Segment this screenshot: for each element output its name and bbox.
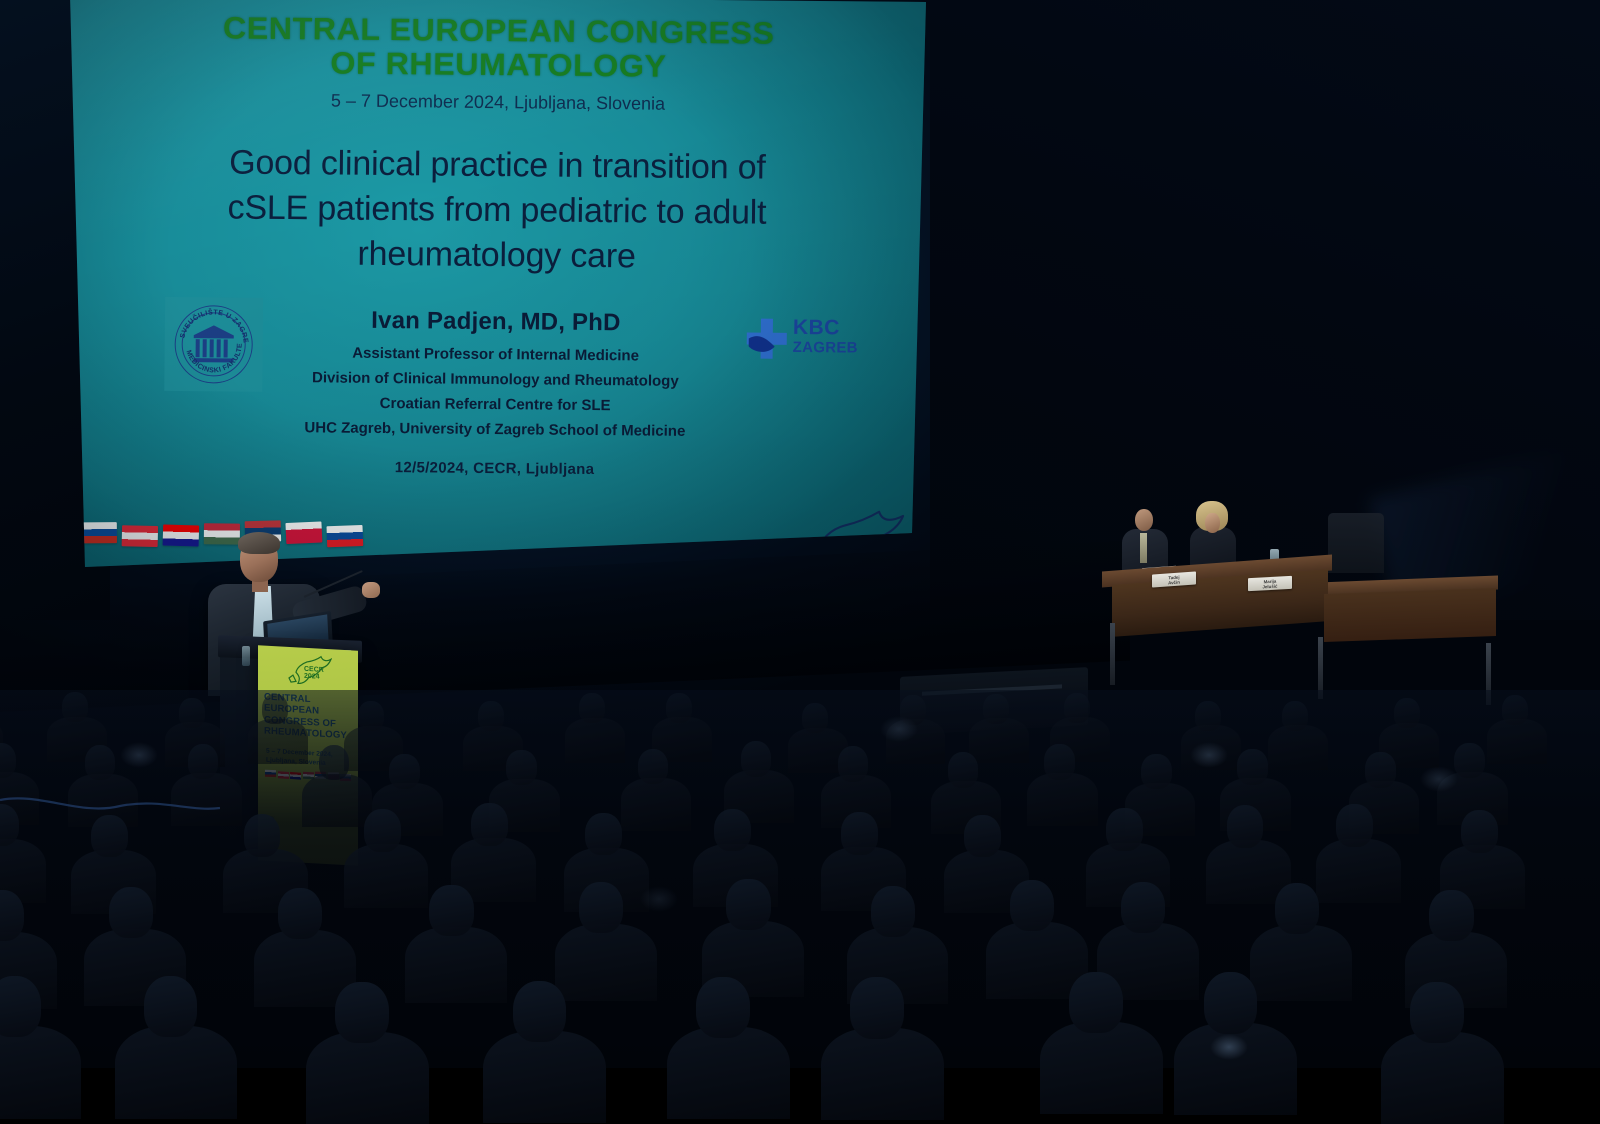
audience-member-head [1195,701,1221,731]
speaker-credit-block: SVEUČILIŠTE U ZAGREBU MEDICINSKI FAKULTE… [69,304,921,502]
congress-title-line2: OF RHEUMATOLOGY [56,44,940,86]
audience-member-head [62,692,88,722]
audience-member-head [666,693,692,723]
seal-circular-text: SVEUČILIŠTE U ZAGREBU MEDICINSKI FAKULTE… [172,303,255,386]
audience-member-head [726,879,770,930]
audience-member-head [244,814,281,857]
empty-chair [1328,513,1384,573]
audience-member-shoulders [1316,839,1401,903]
audience-member-head [335,982,388,1044]
audience-member-shoulders [1268,725,1328,770]
speaker-hand [362,582,380,598]
audience-rim-light [1210,1034,1248,1060]
audience-member-head [478,701,504,731]
stage-cable [0,790,220,826]
talk-title-line3: rheumatology care [71,229,921,282]
audience-silhouettes [0,690,1600,1068]
audience-member-head [0,976,41,1038]
audience-member-head [358,701,384,731]
audience-member-head [850,977,903,1039]
audience-member-head [638,749,669,784]
audience-member-head [179,698,205,728]
audience-member-head [1141,754,1172,789]
audience-member-head [1227,805,1264,848]
audience-member-head [429,885,473,936]
audience-member-head [1010,880,1054,931]
audience-member-head [802,703,828,733]
audience-rim-light [880,716,918,742]
audience-member-head [1106,808,1143,851]
audience-member-head [1410,982,1463,1044]
audience-member-head [714,809,751,852]
kbc-logo-line2: ZAGREB [793,339,858,357]
chairpersons-head-table: Tadej Avčin Marija Jelušić [1090,485,1510,705]
audience-member-head [1454,743,1485,778]
audience-member-shoulders [115,1026,238,1118]
table-leg-1 [1110,623,1115,685]
audience-member-head [1064,693,1090,723]
audience-member-head [579,693,605,723]
audience-member-shoulders [0,1026,81,1118]
audience-member-head [1336,804,1373,847]
name-card-2: Marija Jelušić [1248,576,1292,591]
audience-member-shoulders [344,844,429,908]
audience-rim-light [1420,766,1458,792]
university-of-zagreb-medical-faculty-seal-icon: SVEUČILIŠTE U ZAGREBU MEDICINSKI FAKULTE… [164,297,263,392]
head-table-front-right [1324,588,1496,642]
audience-member-head [983,694,1009,724]
audience-member-head [471,803,508,846]
flag-slovenia [81,522,117,543]
audience-member-head [871,886,915,937]
audience-member-shoulders [1250,925,1352,1002]
audience-member-shoulders [483,1031,606,1123]
audience-member-head [1365,752,1396,787]
audience-member-shoulders [667,1027,790,1119]
audience-member-head [964,815,1001,858]
audience-member-shoulders [621,778,692,831]
audience-member-shoulders [821,1028,944,1120]
kbc-logo-line1: KBC [793,316,840,340]
flag-austria [122,525,158,547]
audience-rim-light [1190,742,1228,768]
audience-member-head [585,813,622,856]
audience-member-head [1429,890,1473,941]
audience-member-head [1275,883,1319,934]
audience-member-head [1121,882,1165,933]
audience-member-head [1282,701,1308,731]
audience-member-shoulders [1040,1022,1163,1114]
audience-member-head [1204,972,1257,1034]
audience-member-head [1044,744,1075,779]
lectern-cecr-text: CECR 2024 [304,666,324,681]
lectern-cecr-line2: 2024 [304,673,324,681]
talk-title-line1: Good clinical practice in transition of [72,139,922,192]
audience-member-head [1069,972,1122,1034]
talk-title-line2: cSLE patients from pediatric to adult [72,184,922,237]
audience-member-head [389,754,420,789]
audience-rim-light [120,742,158,768]
medical-cross-icon [745,316,789,360]
audience-member-head [1237,749,1268,784]
audience-member-head [513,981,566,1043]
audience-member-head [838,746,869,781]
audience-member-head [1502,695,1528,725]
audience-member-head [696,977,749,1039]
audience-member-shoulders [1487,719,1547,764]
audience-member-head [278,888,322,939]
audience-member-shoulders [555,924,657,1001]
audience-member-head [85,745,116,780]
audience-member-head [109,887,153,938]
audience-member-head [1461,810,1498,853]
audience-member-head [841,812,878,855]
audience-member-shoulders [306,1032,429,1124]
audience-member-shoulders [1381,1032,1504,1124]
audience-member-head [262,694,288,724]
chairperson-1-head [1135,509,1153,531]
audience-member-shoulders [248,719,308,764]
projection-screen: CENTRAL EUROPEAN CONGRESS OF RHEUMATOLOG… [0,0,960,600]
audience-member-shoulders [565,718,625,763]
svg-text:SVEUČILIŠTE U ZAGREBU: SVEUČILIŠTE U ZAGREBU [172,303,249,344]
audience-member-shoulders [405,927,507,1004]
audience-member-head [364,809,401,852]
chairperson-1-tie [1140,533,1147,563]
presentation-slide: CENTRAL EUROPEAN CONGRESS OF RHEUMATOLOG… [69,0,924,568]
talk-title: Good clinical practice in transition of … [71,139,922,282]
audience-member-head [579,882,623,933]
chairperson-2-face [1205,513,1220,533]
congress-subtitle: 5 – 7 December 2024, Ljubljana, Slovenia [73,85,923,119]
audience-member-shoulders [302,774,373,827]
projection-screen-area: CENTRAL EUROPEAN CONGRESS OF RHEUMATOLOG… [0,0,960,600]
audience-member-head [948,752,979,787]
kbc-zagreb-logo-icon: KBC ZAGREB [744,312,865,369]
water-bottle [242,646,250,666]
audience-member-shoulders [1027,773,1098,826]
audience-rim-light [640,886,678,912]
slide-datestamp: 12/5/2024, CECR, Ljubljana [69,456,919,481]
auditorium-stage: CENTRAL EUROPEAN CONGRESS OF RHEUMATOLOG… [0,0,1600,1068]
audience-member-head [1394,698,1420,728]
audience-member-head [188,744,219,779]
audience-member-shoulders [969,718,1029,763]
speaker-hair [238,532,280,554]
audience-member-head [319,745,350,780]
audience-member-head [506,750,537,785]
audience-member-head [741,741,772,776]
audience-member-head [144,976,197,1038]
